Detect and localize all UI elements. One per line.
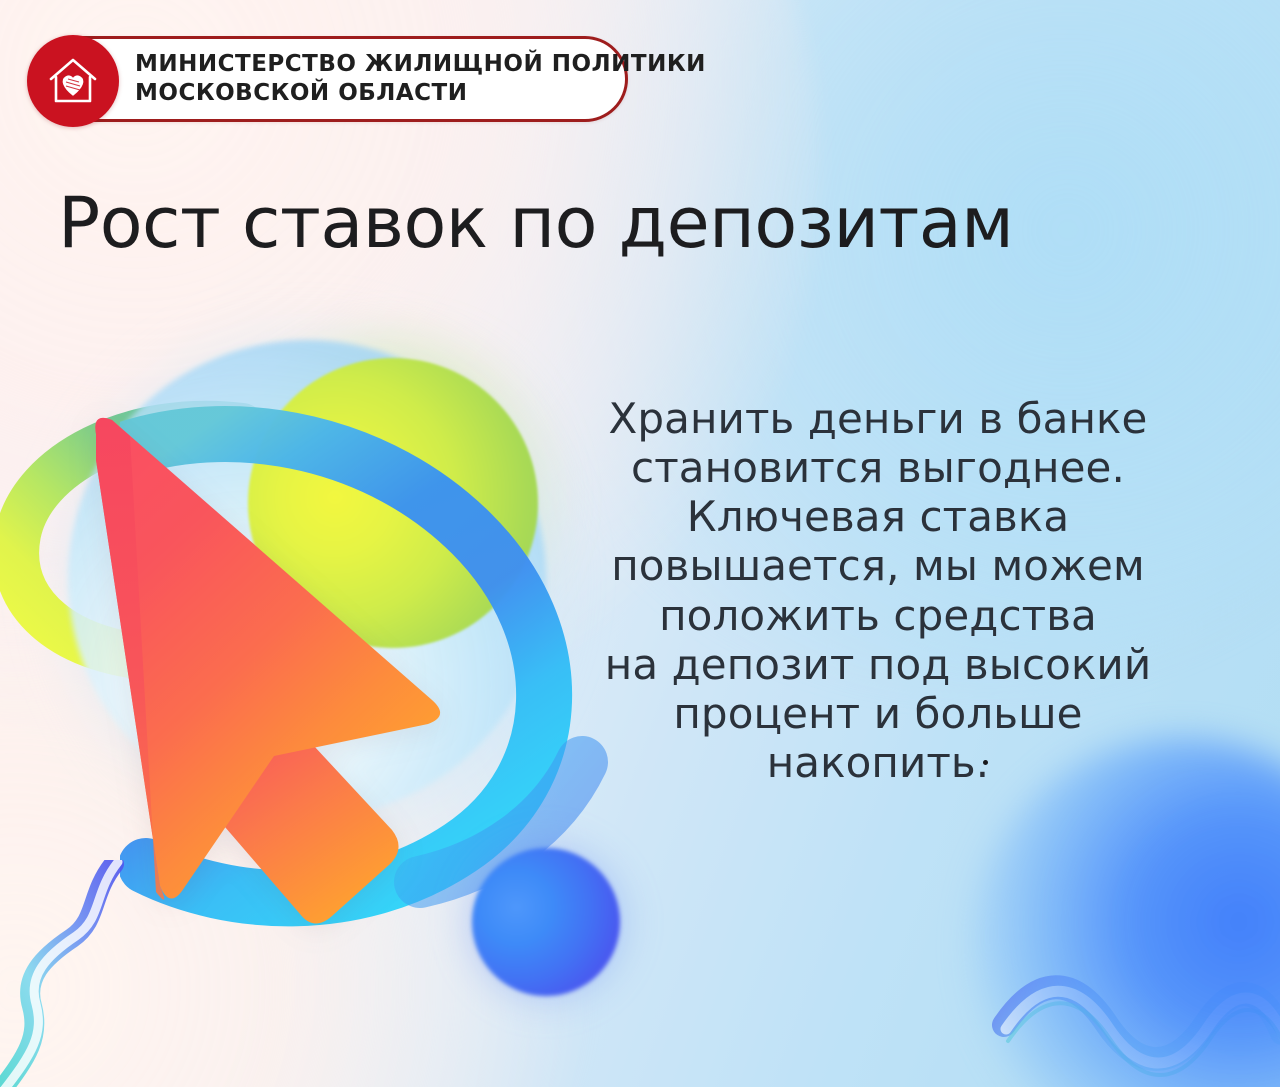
poster-canvas: МИНИСТЕРСТВО ЖИЛИЩНОЙ ПОЛИТИКИ МОСКОВСКО… — [0, 0, 1280, 1087]
org-line-1: МИНИСТЕРСТВО ЖИЛИЩНОЙ ПОЛИТИКИ — [135, 51, 706, 77]
ministry-logo-badge: МИНИСТЕРСТВО ЖИЛИЩНОЙ ПОЛИТИКИ МОСКОВСКО… — [28, 36, 628, 122]
small-blue-sphere — [472, 848, 620, 996]
ministry-logo-text: МИНИСТЕРСТВО ЖИЛИЩНОЙ ПОЛИТИКИ МОСКОВСКО… — [135, 50, 706, 109]
dot-mark — [983, 760, 988, 765]
page-title: Рост ставок по депозитам — [58, 186, 1238, 260]
house-heart-icon — [27, 35, 119, 127]
wave-squiggle-left — [0, 860, 136, 1087]
org-line-2: МОСКОВСКОЙ ОБЛАСТИ — [135, 79, 706, 108]
body-paragraph: Хранить деньги в банке становится выгодн… — [588, 394, 1168, 787]
